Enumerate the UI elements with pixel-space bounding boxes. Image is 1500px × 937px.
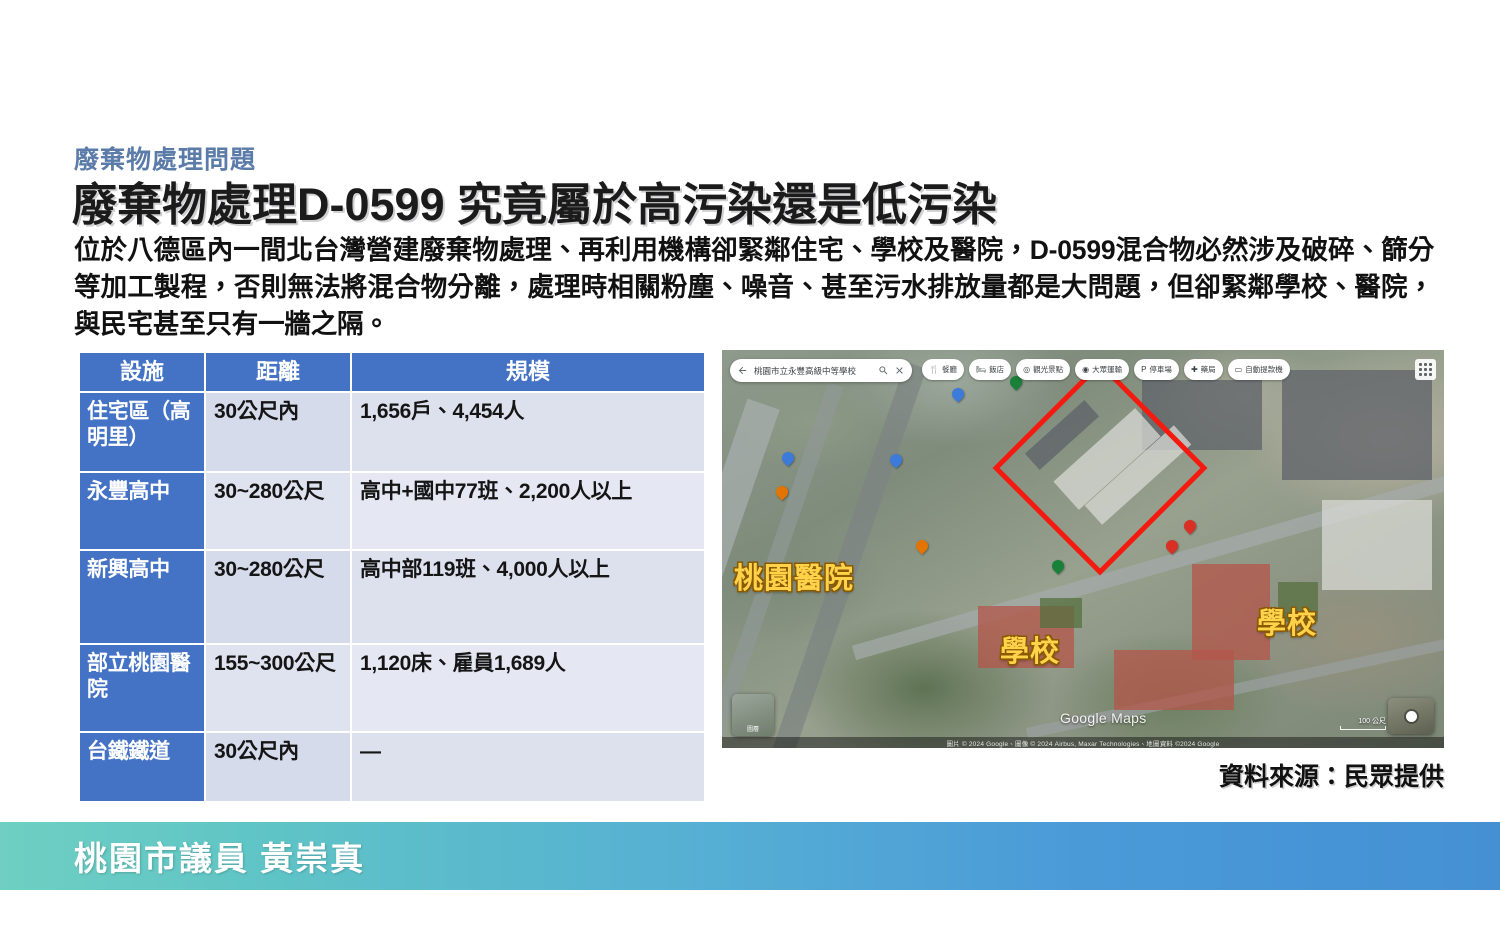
table-row: 永豐高中 30~280公尺 高中+國中77班、2,200人以上 (80, 473, 704, 549)
grid-apps-icon[interactable] (1415, 359, 1436, 380)
map-chip-attraction[interactable]: ◎ 觀光景點 (1016, 359, 1070, 380)
search-icon[interactable] (878, 365, 889, 376)
map-annotation-school-right: 學校 (1257, 600, 1317, 642)
map-chip-restaurant[interactable]: 🍴 餐廳 (922, 359, 964, 380)
atm-icon: ▭ (1235, 366, 1243, 374)
map-scale-label: 100 公尺 (1358, 716, 1386, 726)
column-header-distance: 距離 (206, 353, 350, 391)
chip-label: 飯店 (989, 364, 1004, 375)
pharmacy-icon: ✚ (1191, 366, 1198, 374)
table-row: 住宅區（高明里） 30公尺內 1,656戶、4,454人 (80, 393, 704, 471)
facility-name: 台鐵鐵道 (80, 733, 204, 801)
chip-label: 觀光景點 (1033, 364, 1063, 375)
close-icon[interactable] (894, 365, 905, 376)
map-chip-transit[interactable]: ◉ 大眾運輸 (1075, 359, 1129, 380)
chip-label: 餐廳 (942, 364, 957, 375)
page-title: 廢棄物處理D-0599 究竟屬於高污染還是低污染 (72, 168, 997, 233)
satellite-map-panel[interactable]: 桃園市立永豐高級中等學校 🍴 餐廳 🛏 飯店 ◎ 觀光景點 ◉ 大眾運輸 P 停… (722, 350, 1444, 748)
chip-label: 大眾運輸 (1092, 364, 1122, 375)
facility-scale: — (352, 733, 704, 801)
chip-label: 藥局 (1201, 364, 1216, 375)
facility-name: 永豐高中 (80, 473, 204, 549)
map-search-bar[interactable]: 桃園市立永豐高級中等學校 (730, 359, 912, 382)
facility-distance: 30~280公尺 (206, 473, 350, 549)
facility-distance: 30公尺內 (206, 393, 350, 471)
facility-scale: 1,120床、雇員1,689人 (352, 645, 704, 731)
source-note: 資料來源：民眾提供 (1219, 757, 1444, 793)
map-building-block (1114, 650, 1234, 710)
map-building-block (1322, 500, 1432, 590)
table-row: 部立桃園醫院 155~300公尺 1,120床、雇員1,689人 (80, 645, 704, 731)
street-view-pegman-thumbnail[interactable] (1388, 698, 1434, 734)
transit-icon: ◉ (1082, 366, 1089, 374)
map-chip-pharmacy[interactable]: ✚ 藥局 (1184, 359, 1223, 380)
map-annotation-hospital: 桃園醫院 (734, 555, 854, 597)
facility-distance: 30公尺內 (206, 733, 350, 801)
map-chip-hotel[interactable]: 🛏 飯店 (969, 359, 1011, 380)
map-search-input[interactable]: 桃園市立永豐高級中等學校 (748, 365, 878, 377)
table-header-row: 設施 距離 規模 (80, 353, 704, 391)
map-layers-thumbnail[interactable]: 圖層 (732, 694, 774, 736)
column-header-scale: 規模 (352, 353, 704, 391)
facility-scale: 1,656戶、4,454人 (352, 393, 704, 471)
back-arrow-icon[interactable] (737, 365, 748, 376)
pegman-icon[interactable] (1406, 711, 1417, 722)
map-annotation-school-left: 學校 (1000, 628, 1060, 670)
map-chip-parking[interactable]: P 停車場 (1134, 359, 1179, 380)
table-row: 新興高中 30~280公尺 高中部119班、4,000人以上 (80, 551, 704, 643)
facility-name: 住宅區（高明里） (80, 393, 204, 471)
google-maps-watermark: Google Maps (1060, 710, 1147, 726)
map-attribution: 圖片 © 2024 Google、圖像 © 2024 Airbus, Maxar… (722, 737, 1444, 748)
chip-label: 自動提款機 (1245, 364, 1283, 375)
hotel-icon: 🛏 (976, 366, 986, 374)
facility-scale: 高中部119班、4,000人以上 (352, 551, 704, 643)
column-header-facility: 設施 (80, 353, 204, 391)
restaurant-icon: 🍴 (929, 366, 939, 374)
table-row: 台鐵鐵道 30公尺內 — (80, 733, 704, 801)
facility-table: 設施 距離 規模 住宅區（高明里） 30公尺內 1,656戶、4,454人 永豐… (78, 351, 706, 803)
map-scale-bar: 100 公尺 (1340, 716, 1386, 730)
body-paragraph: 位於八德區內一間北台灣營建廢棄物處理、再利用機構卻緊鄰住宅、學校及醫院，D-05… (74, 232, 1434, 343)
facility-distance: 30~280公尺 (206, 551, 350, 643)
map-scale-line (1340, 726, 1386, 730)
facility-distance: 155~300公尺 (206, 645, 350, 731)
attraction-icon: ◎ (1023, 366, 1030, 374)
facility-scale: 高中+國中77班、2,200人以上 (352, 473, 704, 549)
map-building-block (1282, 370, 1432, 480)
map-filter-chip-row[interactable]: 🍴 餐廳 🛏 飯店 ◎ 觀光景點 ◉ 大眾運輸 P 停車場 ✚ 藥局 ▭ 自動提… (922, 359, 1290, 380)
facility-name: 部立桃園醫院 (80, 645, 204, 731)
map-sports-field (1040, 598, 1082, 628)
facility-name: 新興高中 (80, 551, 204, 643)
parking-icon: P (1141, 366, 1146, 374)
map-layers-label: 圖層 (747, 724, 759, 733)
footer-speaker-name: 桃園市議員 黃崇真 (74, 832, 365, 880)
footer-bar: 桃園市議員 黃崇真 (0, 822, 1500, 890)
chip-label: 停車場 (1149, 364, 1172, 375)
map-chip-atm[interactable]: ▭ 自動提款機 (1228, 359, 1290, 380)
